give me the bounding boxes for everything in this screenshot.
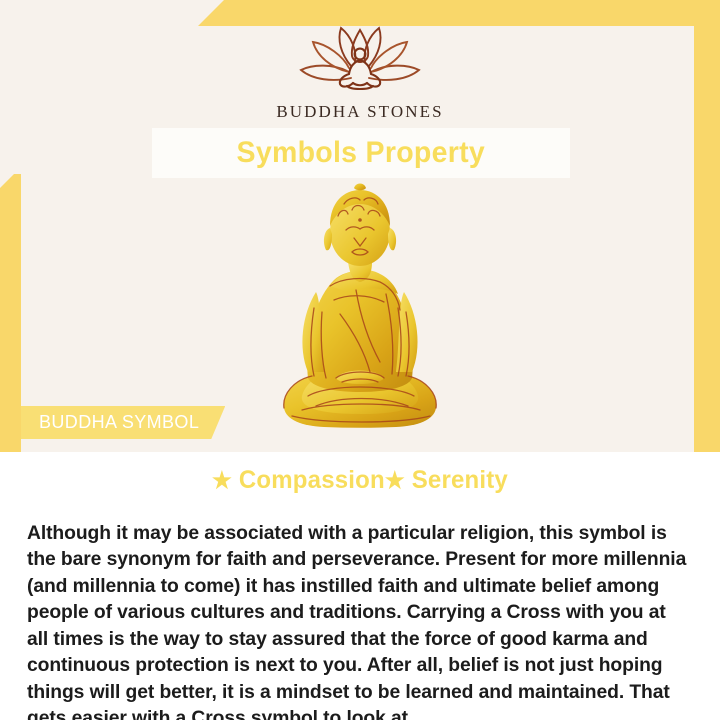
infographic-page: BUDDHA STONES Symbols Property xyxy=(0,0,720,720)
star-left-icon: ★ xyxy=(212,467,232,493)
brand-name: BUDDHA STONES xyxy=(0,102,720,122)
seated-golden-buddha-icon xyxy=(268,182,452,434)
body-paragraph: Although it may be associated with a par… xyxy=(27,520,686,720)
content-headline: ★ Compassion★ Serenity xyxy=(14,466,705,495)
symbol-tag-label: BUDDHA SYMBOL xyxy=(39,412,199,433)
top-yellow-band xyxy=(198,0,720,26)
buddha-statue-image xyxy=(268,182,452,434)
lotus-meditation-icon xyxy=(285,24,435,96)
title-banner: Symbols Property xyxy=(152,128,570,178)
headline-word-serenity: Serenity xyxy=(412,466,508,494)
headline-word-compassion: Compassion xyxy=(239,466,385,494)
star-right-icon: ★ xyxy=(385,467,405,493)
symbol-tag: BUDDHA SYMBOL xyxy=(21,406,225,439)
page-title: Symbols Property xyxy=(237,136,485,170)
brand-logo: BUDDHA STONES xyxy=(0,24,720,122)
